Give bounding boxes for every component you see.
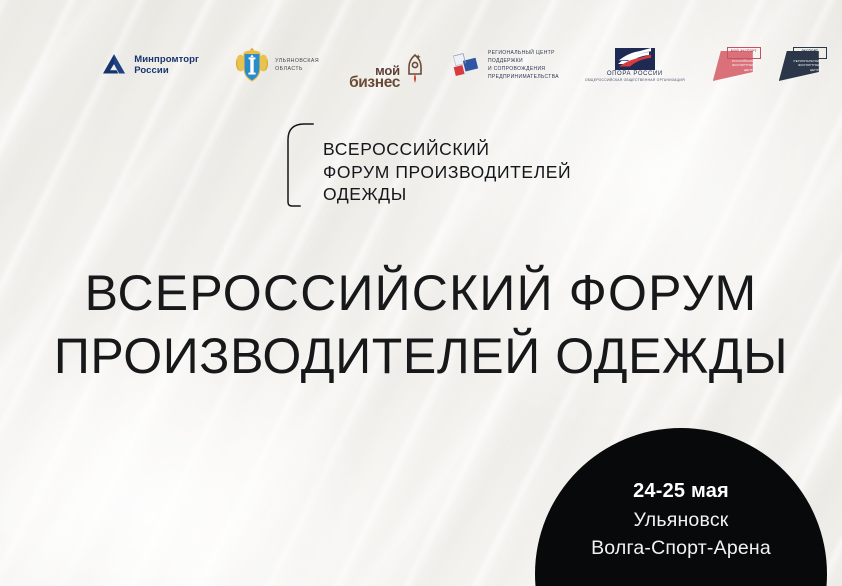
poster-root: Минпромторг России [0,0,842,586]
event-badge-content: 24-25 мая Ульяновск Волга-Спорт-Арена [535,476,827,563]
page-title-line2: ПРОИЗВОДИТЕЛЕЙ ОДЕЖДЫ [0,325,842,388]
opora-label: ОПОРА РОССИИ [607,71,663,77]
ulyanovsk-coat-of-arms-icon [235,46,269,84]
export-quad-badge-navy-icon: ЭКСПОРТ РЕГИОНАЛЬНЫЙ ЭКСПОРТНЫЙ ЦЕНТР [777,47,827,83]
export-red-line2: ЭКСПОРТНЫЙ [732,63,755,67]
regional-center-cubes-icon [452,51,482,79]
forum-emblem-line1: ВСЕРОССИЙСКИЙ [323,138,571,161]
hanger-arch-bracket-icon [284,120,314,210]
event-date: 24-25 мая [535,476,827,506]
forum-emblem-line3: ОДЕЖДЫ [323,183,571,206]
minpromtorg-label: Минпромторг России [134,54,199,76]
export-navy-line2: ЭКСПОРТНЫЙ [798,63,821,67]
minpromtorg-triangle-mark-icon [101,52,127,78]
export-red-label: РОССИЙСКИЙ ЭКСПОРТНЫЙ ЦЕНТР [725,59,755,72]
ulyanovsk-line2: ОБЛАСТЬ [275,66,303,72]
export-navy-line3: ЦЕНТР [810,68,821,72]
moy-biznes-label: мой бизнес [349,65,400,90]
export-navy-line1: РЕГИОНАЛЬНЫЙ [794,59,821,63]
regional-center-line4: ПРЕДПРИНИМАТЕЛЬСТВА [488,74,559,80]
sponsor-logo-opora-rossii: ОПОРА РОССИИ ОБЩЕРОССИЙСКАЯ ОБЩЕСТВЕННАЯ… [585,41,685,89]
sponsor-logo-strip: Минпромторг России [0,36,842,94]
regional-center-label: РЕГИОНАЛЬНЫЙ ЦЕНТР ПОДДЕРЖКИ И СОПРОВОЖД… [488,49,559,81]
export-quad-badge-red-icon: МОЙ ЭКСПОРТ РОССИЙСКИЙ ЭКСПОРТНЫЙ ЦЕНТР [711,47,761,83]
event-venue: Волга-Спорт-Арена [535,534,827,562]
forum-emblem-label: ВСЕРОССИЙСКИЙ ФОРУМ ПРОИЗВОДИТЕЛЕЙ ОДЕЖД… [323,120,571,210]
regional-center-line3: И СОПРОВОЖДЕНИЯ [488,66,545,72]
page-title-line1: ВСЕРОССИЙСКИЙ ФОРУМ [0,262,842,325]
regional-center-line2: ПОДДЕРЖКИ [488,58,523,64]
export-red-line3: ЦЕНТР [744,68,755,72]
export-red-box: МОЙ ЭКСПОРТ [727,47,761,59]
rocket-pin-icon [404,53,426,87]
export-navy-label: РЕГИОНАЛЬНЫЙ ЭКСПОРТНЫЙ ЦЕНТР [791,59,821,72]
ulyanovsk-line1: УЛЬЯНОВСКАЯ [275,58,319,64]
sponsor-logo-ulyanovsk-region: УЛЬЯНОВСКАЯ ОБЛАСТЬ [235,41,319,89]
minpromtorg-line1: Минпромторг [134,54,199,65]
sponsor-logo-moy-biznes: мой бизнес [349,41,426,89]
regional-center-line1: РЕГИОНАЛЬНЫЙ ЦЕНТР [488,50,555,56]
forum-emblem-line2: ФОРУМ ПРОИЗВОДИТЕЛЕЙ [323,161,571,184]
moy-biznes-line2: бизнес [349,76,400,89]
export-navy-badge-text: ЭКСПОРТ [794,49,826,53]
forum-emblem: ВСЕРОССИЙСКИЙ ФОРУМ ПРОИЗВОДИТЕЛЕЙ ОДЕЖД… [284,120,571,210]
minpromtorg-line2: России [134,65,169,76]
export-red-line1: РОССИЙСКИЙ [732,59,755,63]
event-city: Ульяновск [535,506,827,534]
sponsor-logo-minpromtorg: Минпромторг России [101,41,199,89]
page-title: ВСЕРОССИЙСКИЙ ФОРУМ ПРОИЗВОДИТЕЛЕЙ ОДЕЖД… [0,262,842,387]
russian-tricolor-flag-icon [615,48,655,70]
export-navy-box: ЭКСПОРТ [793,47,827,59]
export-red-badge-text: МОЙ ЭКСПОРТ [728,49,760,53]
opora-sublabel: ОБЩЕРОССИЙСКАЯ ОБЩЕСТВЕННАЯ ОРГАНИЗАЦИЯ [585,78,685,82]
ulyanovsk-label: УЛЬЯНОВСКАЯ ОБЛАСТЬ [275,57,319,73]
sponsor-logo-regional-center: РЕГИОНАЛЬНЫЙ ЦЕНТР ПОДДЕРЖКИ И СОПРОВОЖД… [452,41,559,89]
sponsor-logo-export-navy: ЭКСПОРТ РЕГИОНАЛЬНЫЙ ЭКСПОРТНЫЙ ЦЕНТР [777,41,827,89]
sponsor-logo-export-red: МОЙ ЭКСПОРТ РОССИЙСКИЙ ЭКСПОРТНЫЙ ЦЕНТР [711,41,761,89]
